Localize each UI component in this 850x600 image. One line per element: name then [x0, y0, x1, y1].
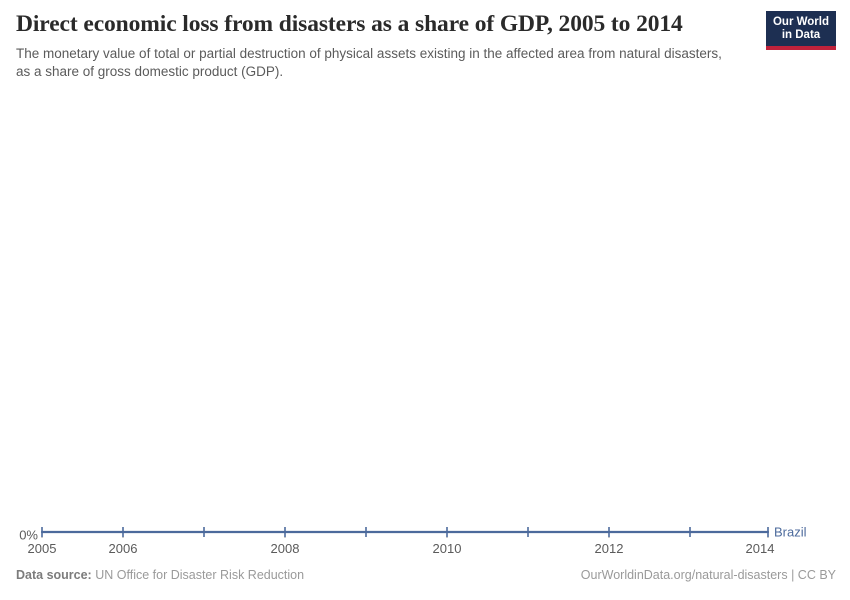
chart-footer: Data source: UN Office for Disaster Risk…: [16, 568, 836, 584]
x-axis-label-2006: 2006: [109, 541, 138, 556]
data-source: Data source: UN Office for Disaster Risk…: [16, 568, 304, 582]
series-end-label-brazil[interactable]: Brazil: [774, 524, 807, 539]
chart-subtitle: The monetary value of total or partial d…: [16, 45, 732, 81]
x-axis-label-2005: 2005: [28, 541, 57, 556]
line-chart-svg: 0%: [0, 96, 850, 556]
x-axis-tick-labels: 2005 2006 2008 2010 2012 2014: [28, 541, 775, 556]
plot-area: 0%: [0, 96, 850, 556]
data-source-label: Data source:: [16, 568, 92, 582]
x-axis-label-2010: 2010: [433, 541, 462, 556]
owid-chart: Direct economic loss from disasters as a…: [0, 0, 850, 600]
data-source-value: UN Office for Disaster Risk Reduction: [95, 568, 304, 582]
our-world-in-data-logo[interactable]: Our World in Data: [766, 11, 836, 50]
chart-title: Direct economic loss from disasters as a…: [16, 10, 756, 38]
x-axis-label-2012: 2012: [595, 541, 624, 556]
chart-header: Direct economic loss from disasters as a…: [16, 10, 756, 82]
x-axis-label-2014: 2014: [746, 541, 775, 556]
logo-line-1: Our World: [773, 16, 829, 28]
x-axis-label-2008: 2008: [271, 541, 300, 556]
logo-line-2: in Data: [782, 29, 820, 41]
attribution-link[interactable]: OurWorldinData.org/natural-disasters | C…: [581, 568, 836, 582]
